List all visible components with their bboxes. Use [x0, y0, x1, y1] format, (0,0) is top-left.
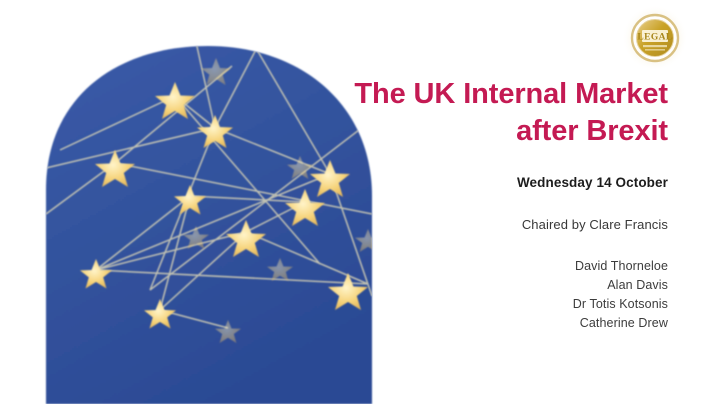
page-title: The UK Internal Market after Brexit — [238, 76, 668, 149]
list-item: Catherine Drew — [238, 314, 668, 333]
presentation-title-slide: LEGAL The UK Internal Market after Brexi… — [0, 0, 718, 404]
slide-text-column: The UK Internal Market after Brexit Wedn… — [238, 76, 668, 333]
list-item: David Thorneloe — [238, 257, 668, 276]
list-item: Alan Davis — [238, 276, 668, 295]
list-item: Dr Totis Kotsonis — [238, 295, 668, 314]
legal-award-seal-logo: LEGAL — [614, 4, 692, 76]
legal-seal-text: LEGAL — [637, 33, 672, 43]
title-line-2: after Brexit — [238, 113, 668, 150]
title-line-1: The UK Internal Market — [354, 78, 668, 110]
event-date: Wednesday 14 October — [238, 175, 668, 190]
chair-credit: Chaired by Clare Francis — [238, 217, 668, 232]
speaker-list: David Thorneloe Alan Davis Dr Totis Kots… — [238, 257, 668, 333]
